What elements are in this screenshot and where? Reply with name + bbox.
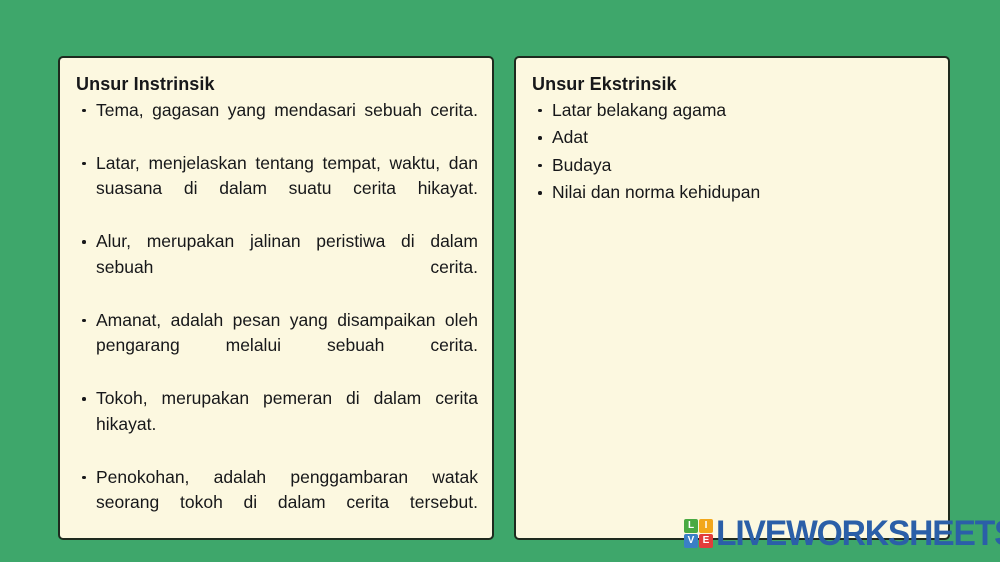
list-item: Alur, merupakan jalinan peristiwa di dal…: [74, 229, 478, 306]
list-item-text: Latar, menjelaskan tentang tempat, waktu…: [96, 153, 478, 199]
worksheet-canvas: Unsur Instrinsik Tema, gagasan yang mend…: [0, 0, 1000, 562]
bullet-dot-icon: [82, 397, 86, 401]
list-item: Penokohan, adalah penggambaran watak seo…: [74, 465, 478, 540]
bullet-dot-icon: [82, 476, 86, 480]
list-item: Latar, menjelaskan tentang tempat, waktu…: [74, 151, 478, 228]
list-item: Nilai dan norma kehidupan: [530, 180, 934, 206]
list-item-text: Tokoh, merupakan pemeran di dalam cerita…: [96, 388, 478, 434]
live-tiles-icon: L I V E: [684, 519, 713, 548]
bullet-list-instrinsik: Tema, gagasan yang mendasari sebuah ceri…: [74, 98, 478, 540]
bullet-dot-icon: [538, 191, 542, 195]
panel-unsur-instrinsik: Unsur Instrinsik Tema, gagasan yang mend…: [58, 56, 494, 540]
list-item-text: Alur, merupakan jalinan peristiwa di dal…: [96, 231, 478, 277]
bullet-list-ekstrinsik: Latar belakang agama Adat Budaya Nilai d…: [530, 98, 934, 206]
panel-title-instrinsik: Unsur Instrinsik: [76, 74, 478, 96]
list-item: Adat: [530, 125, 934, 151]
list-item-text: Budaya: [552, 155, 611, 175]
logo-tile-e: E: [699, 534, 713, 548]
bullet-dot-icon: [82, 109, 86, 113]
bullet-dot-icon: [82, 319, 86, 323]
logo-tile-i: I: [699, 519, 713, 533]
list-item: Budaya: [530, 153, 934, 179]
list-item: Latar belakang agama: [530, 98, 934, 124]
list-item: Tokoh, merupakan pemeran di dalam cerita…: [74, 386, 478, 463]
list-item-text: Tema, gagasan yang mendasari sebuah ceri…: [96, 100, 478, 120]
list-item-text: Penokohan, adalah penggambaran watak seo…: [96, 467, 478, 513]
list-item-text: Nilai dan norma kehidupan: [552, 182, 760, 202]
list-item: Tema, gagasan yang mendasari sebuah ceri…: [74, 98, 478, 149]
list-item-text: Latar belakang agama: [552, 100, 726, 120]
logo-tile-l: L: [684, 519, 698, 533]
panel-title-ekstrinsik: Unsur Ekstrinsik: [532, 74, 934, 96]
list-item-text: Amanat, adalah pesan yang disampaikan ol…: [96, 310, 478, 356]
bullet-dot-icon: [82, 240, 86, 244]
logo-wordmark: LIVEWORKSHEETS: [716, 516, 1000, 551]
bullet-dot-icon: [82, 162, 86, 166]
list-item: Amanat, adalah pesan yang disampaikan ol…: [74, 308, 478, 385]
logo-tile-v: V: [684, 534, 698, 548]
bullet-dot-icon: [538, 136, 542, 140]
list-item-text: Adat: [552, 127, 588, 147]
liveworksheets-logo[interactable]: L I V E LIVEWORKSHEETS: [684, 512, 1000, 554]
bullet-dot-icon: [538, 109, 542, 113]
bullet-dot-icon: [538, 164, 542, 168]
panel-unsur-ekstrinsik: Unsur Ekstrinsik Latar belakang agama Ad…: [514, 56, 950, 540]
